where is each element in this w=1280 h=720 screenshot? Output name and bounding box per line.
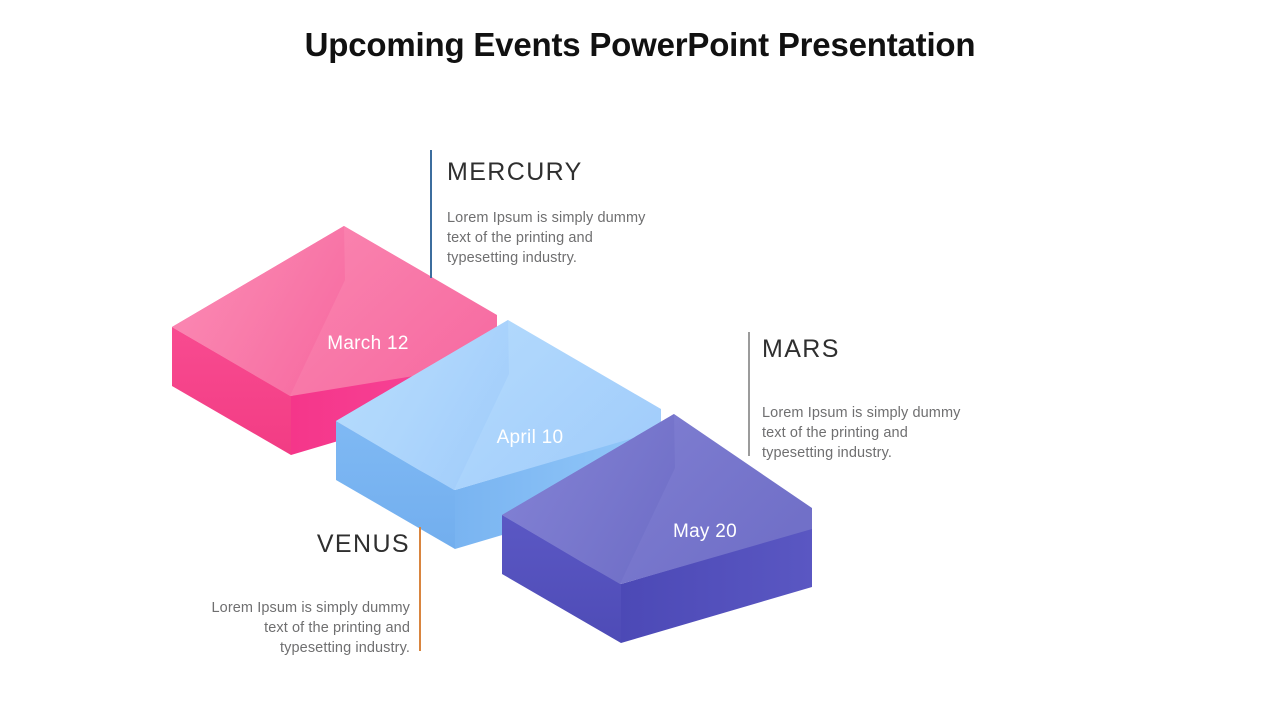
- caption-body-line: text of the printing and: [150, 619, 410, 639]
- caption-heading-mercury: MERCURY: [447, 160, 707, 185]
- caption-body-line: Lorem Ipsum is simply dummy: [447, 209, 707, 229]
- caption-body-mercury: Lorem Ipsum is simply dummy text of the …: [447, 209, 707, 269]
- caption-body-line: Lorem Ipsum is simply dummy: [150, 599, 410, 619]
- caption-venus: VENUS Lorem Ipsum is simply dummy text o…: [150, 532, 410, 659]
- caption-body-line: typesetting industry.: [447, 249, 707, 269]
- accent-rule-venus: [419, 527, 421, 651]
- caption-body-line: typesetting industry.: [762, 444, 1024, 464]
- caption-body-line: text of the printing and: [447, 229, 707, 249]
- caption-body-line: text of the printing and: [762, 424, 1024, 444]
- caption-body-line: typesetting industry.: [150, 639, 410, 659]
- caption-mercury: MERCURY Lorem Ipsum is simply dummy text…: [447, 160, 707, 269]
- accent-rule-mars: [748, 332, 750, 456]
- caption-body-venus: Lorem Ipsum is simply dummy text of the …: [150, 599, 410, 659]
- slide-canvas: Upcoming Events PowerPoint Presentation: [0, 0, 1280, 720]
- caption-body-mars: Lorem Ipsum is simply dummy text of the …: [762, 404, 1024, 464]
- accent-rule-mercury: [430, 150, 432, 278]
- caption-heading-venus: VENUS: [150, 532, 410, 557]
- caption-mars: MARS Lorem Ipsum is simply dummy text of…: [762, 337, 1024, 464]
- caption-heading-mars: MARS: [762, 337, 1024, 362]
- caption-body-line: Lorem Ipsum is simply dummy: [762, 404, 1024, 424]
